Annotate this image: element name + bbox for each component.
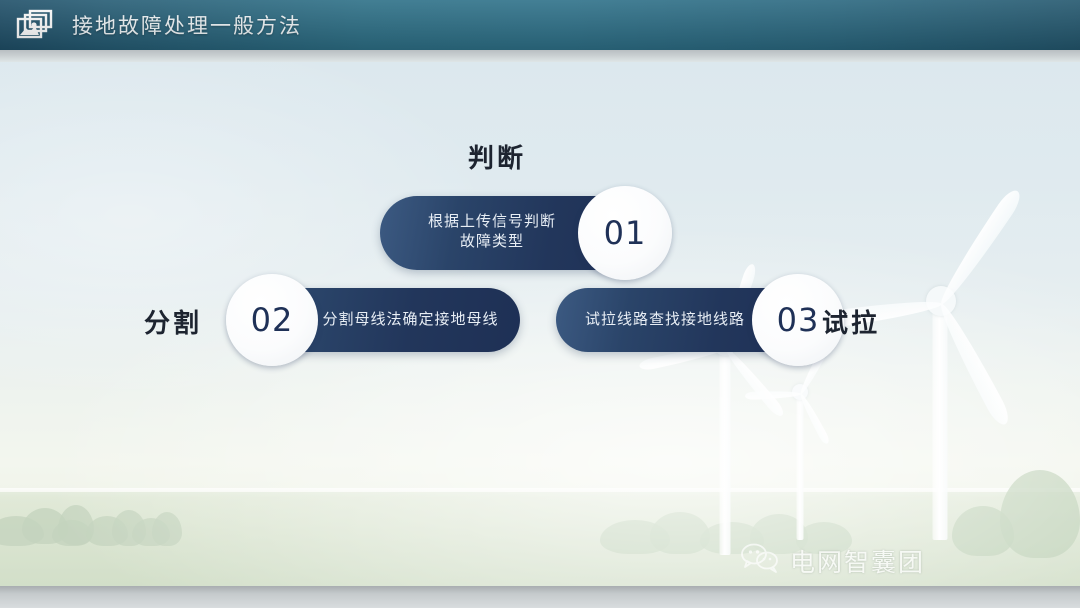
watermark: 电网智囊团 <box>740 542 925 579</box>
header-under-bar <box>0 50 1080 62</box>
wind-turbine-left <box>650 330 800 555</box>
step-capsule-03[interactable]: 试拉线路查找接地线路 03 <box>556 288 818 352</box>
watermark-text: 电网智囊团 <box>790 543 925 579</box>
step-number-02: 02 <box>226 274 318 366</box>
turbine-mast <box>933 300 948 540</box>
step-capsule-01[interactable]: 根据上传信号判断 故障类型 01 <box>380 196 656 270</box>
bottom-bar <box>0 586 1080 608</box>
step-label-trial-trip: 试拉 <box>822 303 880 340</box>
slide-canvas: 接地故障处理一般方法 判断 根据上传信号判断 故障类型 01 分割 分割母线法确… <box>0 0 1080 608</box>
step-capsule-02[interactable]: 分割母线法确定接地母线 02 <box>232 288 520 352</box>
step-number-01: 01 <box>578 186 672 280</box>
step-text-03: 试拉线路查找接地线路 <box>570 310 760 330</box>
treeline-clump <box>152 512 182 546</box>
step-text-01: 根据上传信号判断 故障类型 <box>402 212 582 252</box>
photos-stack-icon <box>14 9 54 41</box>
wechat-icon <box>740 542 780 579</box>
step-label-judge: 判断 <box>468 138 526 175</box>
turbine-mast <box>720 340 731 555</box>
step-label-split: 分割 <box>144 303 202 340</box>
header-bar: 接地故障处理一般方法 <box>0 0 1080 50</box>
page-title: 接地故障处理一般方法 <box>72 10 302 40</box>
step-text-02: 分割母线法确定接地母线 <box>308 310 513 330</box>
